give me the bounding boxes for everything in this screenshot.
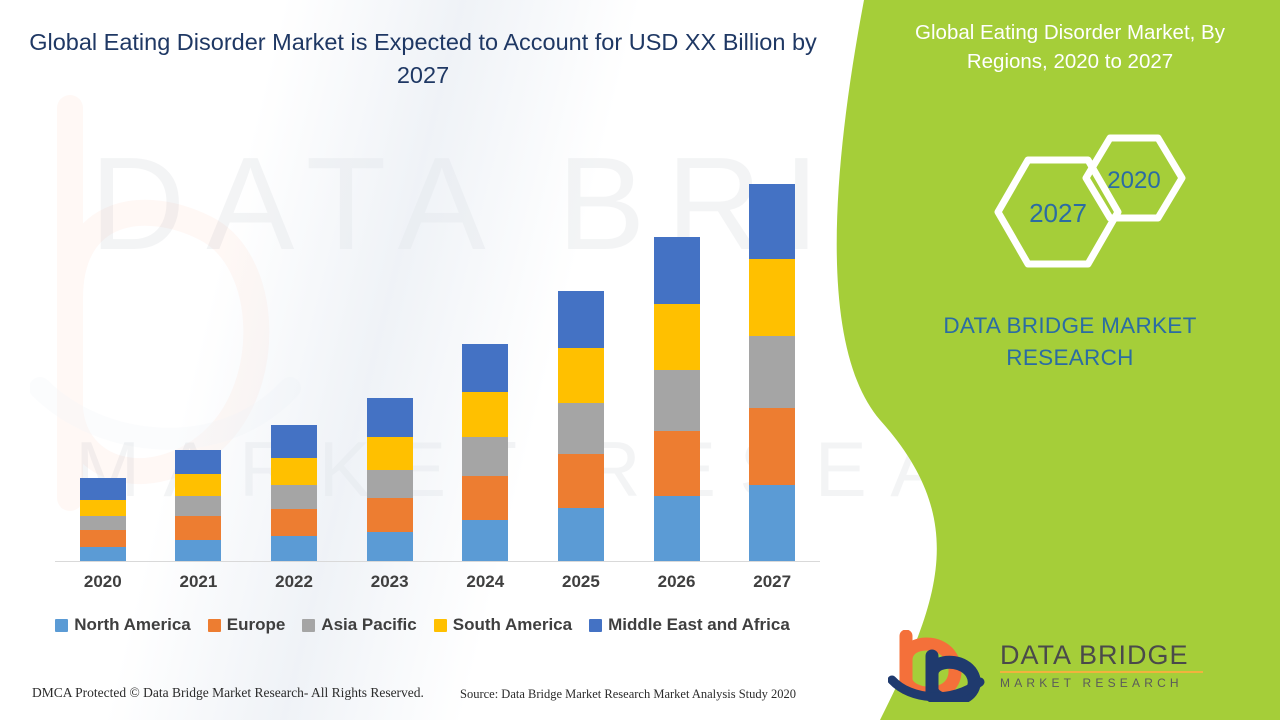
legend-item[interactable]: Middle East and Africa — [589, 615, 790, 635]
bar-segment[interactable] — [175, 496, 221, 516]
bar-segment[interactable] — [462, 437, 508, 476]
bar-segment[interactable] — [271, 485, 317, 509]
legend-label: South America — [453, 615, 572, 635]
stacked-bar[interactable] — [175, 450, 221, 561]
stacked-bar[interactable] — [654, 237, 700, 561]
bar-slot — [151, 120, 247, 561]
bar-segment[interactable] — [749, 408, 795, 485]
bar-slot — [55, 120, 151, 561]
bar-segment[interactable] — [462, 476, 508, 520]
legend-label: Europe — [227, 615, 286, 635]
bar-segment[interactable] — [367, 498, 413, 532]
bar-segment[interactable] — [367, 532, 413, 561]
bar-segment[interactable] — [271, 425, 317, 458]
legend-swatch — [434, 619, 447, 632]
legend-label: Middle East and Africa — [608, 615, 790, 635]
bar-segment[interactable] — [271, 458, 317, 485]
bar-segment[interactable] — [367, 470, 413, 498]
x-axis-tick-label: 2026 — [629, 572, 725, 592]
x-axis-labels: 20202021202220232024202520262027 — [55, 572, 820, 592]
chart-plot-area — [55, 120, 820, 562]
bar-segment[interactable] — [654, 237, 700, 304]
bar-segment[interactable] — [271, 509, 317, 536]
infographic-slide: DATA BRIDGE MARKET RESEARCH Global Eatin… — [0, 0, 1280, 720]
legend-item[interactable]: Asia Pacific — [302, 615, 416, 635]
chart-legend: North AmericaEuropeAsia PacificSouth Ame… — [0, 615, 845, 635]
legend-swatch — [302, 619, 315, 632]
stacked-bar[interactable] — [558, 291, 604, 561]
legend-swatch — [55, 619, 68, 632]
legend-swatch — [589, 619, 602, 632]
x-axis-tick-label: 2025 — [533, 572, 629, 592]
bar-segment[interactable] — [749, 259, 795, 336]
bar-segment[interactable] — [654, 370, 700, 431]
bar-segment[interactable] — [654, 304, 700, 370]
bar-segment[interactable] — [175, 540, 221, 561]
bar-segment[interactable] — [367, 437, 413, 470]
green-side-panel: Global Eating Disorder Market, By Region… — [820, 0, 1280, 720]
green-panel-shape — [820, 0, 1280, 720]
bar-segment[interactable] — [175, 450, 221, 474]
bar-segment[interactable] — [558, 403, 604, 454]
bar-segment[interactable] — [558, 348, 604, 403]
bar-segment[interactable] — [80, 500, 126, 516]
stacked-bar[interactable] — [80, 478, 126, 561]
x-axis-tick-label: 2021 — [151, 572, 247, 592]
bar-slot — [724, 120, 820, 561]
bar-segment[interactable] — [80, 478, 126, 500]
bar-slot — [342, 120, 438, 561]
bar-segment[interactable] — [80, 547, 126, 561]
bar-segment[interactable] — [80, 530, 126, 547]
bar-segment[interactable] — [462, 392, 508, 437]
legend-item[interactable]: Europe — [208, 615, 286, 635]
legend-label: North America — [74, 615, 191, 635]
legend-item[interactable]: North America — [55, 615, 191, 635]
x-axis-tick-label: 2024 — [438, 572, 534, 592]
stacked-bar[interactable] — [367, 398, 413, 561]
bar-segment[interactable] — [749, 184, 795, 259]
chart-panel: Global Eating Disorder Market is Expecte… — [0, 0, 860, 720]
stacked-bar[interactable] — [749, 184, 795, 561]
legend-item[interactable]: South America — [434, 615, 572, 635]
bar-segment[interactable] — [80, 516, 126, 530]
bar-segment[interactable] — [558, 508, 604, 561]
bar-segment[interactable] — [749, 336, 795, 408]
bar-segment[interactable] — [749, 485, 795, 561]
bar-segment[interactable] — [462, 520, 508, 561]
bar-slot — [533, 120, 629, 561]
bar-slot — [438, 120, 534, 561]
bar-slot — [246, 120, 342, 561]
legend-label: Asia Pacific — [321, 615, 416, 635]
x-axis-tick-label: 2020 — [55, 572, 151, 592]
page-title: Global Eating Disorder Market is Expecte… — [14, 26, 832, 92]
copyright-text: DMCA Protected © Data Bridge Market Rese… — [32, 685, 424, 701]
stacked-bar[interactable] — [462, 344, 508, 561]
legend-swatch — [208, 619, 221, 632]
x-axis-tick-label: 2023 — [342, 572, 438, 592]
bar-segment[interactable] — [558, 454, 604, 508]
stacked-bar[interactable] — [271, 425, 317, 561]
bar-segment[interactable] — [367, 398, 413, 437]
bar-segment[interactable] — [654, 496, 700, 561]
x-axis-line — [55, 561, 820, 562]
bar-segment[interactable] — [271, 536, 317, 561]
x-axis-tick-label: 2027 — [724, 572, 820, 592]
bar-segment[interactable] — [558, 291, 604, 348]
bar-segment[interactable] — [462, 344, 508, 392]
bar-segment[interactable] — [175, 474, 221, 496]
source-text: Source: Data Bridge Market Research Mark… — [460, 687, 796, 702]
bar-segment[interactable] — [175, 516, 221, 540]
bar-segment[interactable] — [654, 431, 700, 496]
x-axis-tick-label: 2022 — [246, 572, 342, 592]
bar-group — [55, 120, 820, 561]
bar-slot — [629, 120, 725, 561]
